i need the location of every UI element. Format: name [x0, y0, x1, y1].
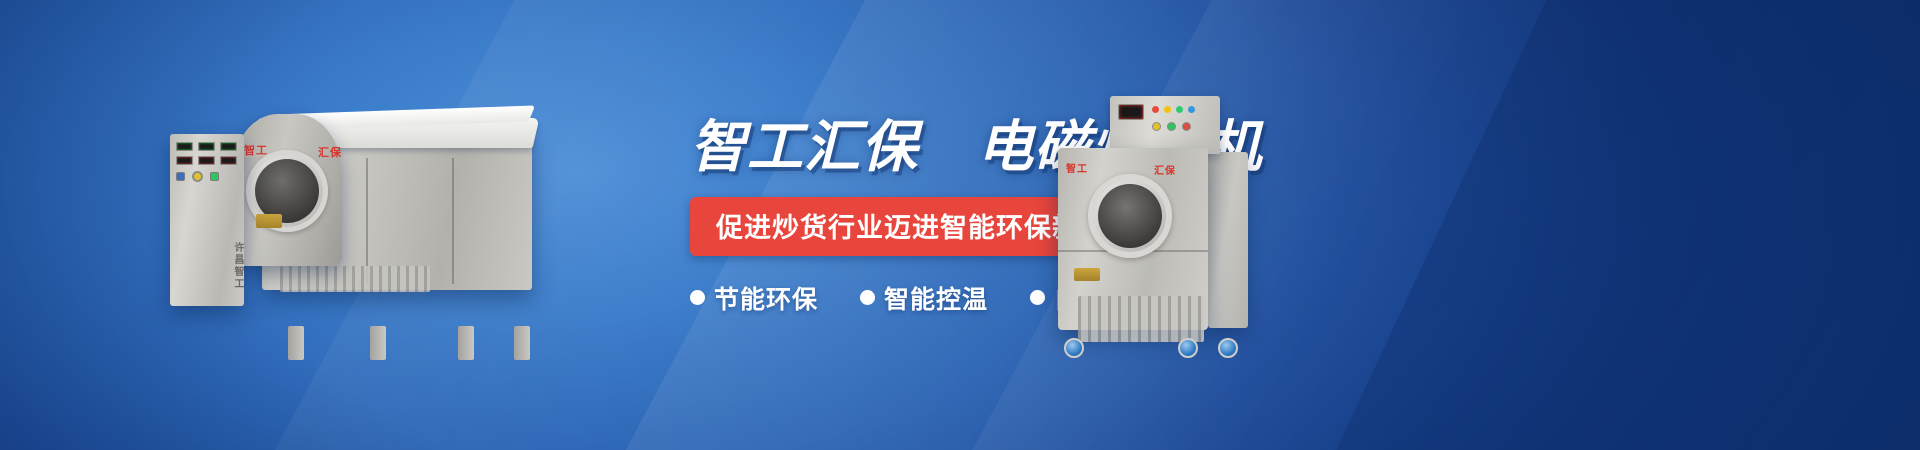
indicator-lamp-green	[1176, 106, 1183, 113]
product-image-roaster-upright: 智工 汇保	[1040, 96, 1270, 358]
machine-drum-housing: 智工 汇保	[232, 114, 342, 266]
machine-control-cabinet: 许昌智工	[170, 134, 244, 306]
control-button-row	[176, 171, 238, 182]
display-gauge	[220, 142, 237, 151]
bullet-dot-icon	[860, 290, 875, 305]
control-knob-red	[1182, 122, 1191, 131]
brand-mark-left: 智工	[1066, 160, 1088, 175]
brand-mark-right: 汇保	[1154, 162, 1176, 177]
machine-drum-interior	[1116, 208, 1146, 246]
machine-leg	[370, 326, 386, 360]
feature-item-energy-saving: 节能环保	[690, 280, 818, 316]
machine-caster-wheel	[1064, 338, 1084, 358]
gauge-row-bottom	[176, 156, 238, 165]
machine-caster-wheel	[1178, 338, 1198, 358]
machine-display-screen	[1118, 104, 1144, 120]
feature-item-temperature-control: 智能控温	[860, 280, 988, 316]
feature-label: 智能控温	[884, 280, 988, 316]
machine-drum-opening	[1088, 174, 1172, 258]
brand-mark-right: 汇保	[318, 144, 342, 160]
machine-caster-wheel	[1218, 338, 1238, 358]
control-knob-yellow	[1152, 122, 1161, 131]
display-gauge	[176, 156, 193, 165]
display-gauge	[176, 142, 193, 151]
product-image-roaster-large: 智工 汇保	[170, 88, 590, 358]
machine-side-tower	[1208, 152, 1248, 328]
control-knob-row	[1152, 122, 1191, 131]
bullet-dot-icon	[690, 290, 705, 305]
machine-body: 智工 汇保	[1058, 148, 1208, 330]
title-brand: 智工汇保	[690, 115, 918, 178]
machine-name-plate	[256, 214, 282, 228]
indicator-lamp-row	[1152, 106, 1195, 113]
control-knob-green	[1167, 122, 1176, 131]
control-button-green	[210, 172, 219, 181]
machine-vertical-label: 许昌智工	[230, 242, 245, 290]
machine-leg	[288, 326, 304, 360]
machine-vent-grille	[280, 266, 430, 292]
machine-vent-grille	[1078, 296, 1204, 342]
display-gauge	[198, 142, 215, 151]
feature-label: 节能环保	[714, 280, 818, 316]
display-gauge	[220, 156, 237, 165]
indicator-lamp-yellow	[1164, 106, 1171, 113]
indicator-lamp-blue	[1188, 106, 1195, 113]
control-button-blue	[176, 172, 185, 181]
machine-name-plate	[1074, 268, 1100, 281]
machine-leg	[458, 326, 474, 360]
machine-leg	[514, 326, 530, 360]
promo-banner: 智工 汇保	[0, 0, 1920, 450]
display-gauge	[198, 156, 215, 165]
control-knob-yellow	[192, 171, 203, 182]
indicator-lamp-red	[1152, 106, 1159, 113]
machine-control-head	[1110, 96, 1220, 154]
machine-control-panel	[176, 142, 238, 204]
gauge-row-top	[176, 142, 238, 151]
